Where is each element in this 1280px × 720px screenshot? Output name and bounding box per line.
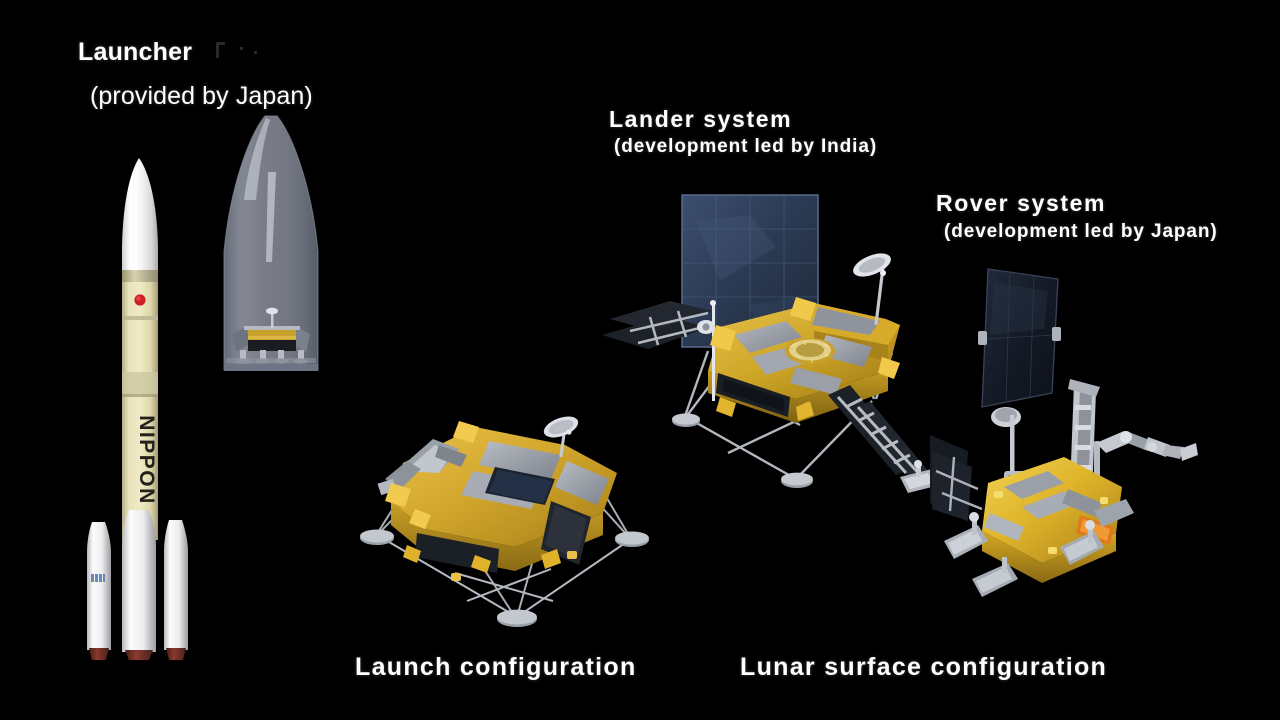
label-launcher-subtitle: (provided by Japan) — [90, 82, 313, 111]
lander-surface-configuration-illustration — [600, 185, 960, 505]
label-launch-configuration: Launch configuration — [355, 653, 637, 682]
label-launcher-title: Launcher — [78, 38, 192, 67]
label-rover-title: Rover system — [936, 190, 1106, 217]
payload-fairing-illustration — [210, 112, 350, 392]
label-rover-subtitle: (development led by Japan) — [944, 221, 1218, 243]
launch-vehicle-illustration: NIPPON — [78, 150, 208, 660]
rover-illustration — [930, 265, 1200, 610]
diagram-canvas: NIPPON — [0, 0, 1280, 720]
label-lander-subtitle: (development led by India) — [614, 136, 877, 158]
label-lander-title: Lander system — [609, 106, 792, 133]
compression-artifact-glyph — [216, 42, 264, 64]
label-lunar-configuration: Lunar surface configuration — [740, 653, 1107, 682]
rocket-body-text: NIPPON — [135, 415, 158, 505]
